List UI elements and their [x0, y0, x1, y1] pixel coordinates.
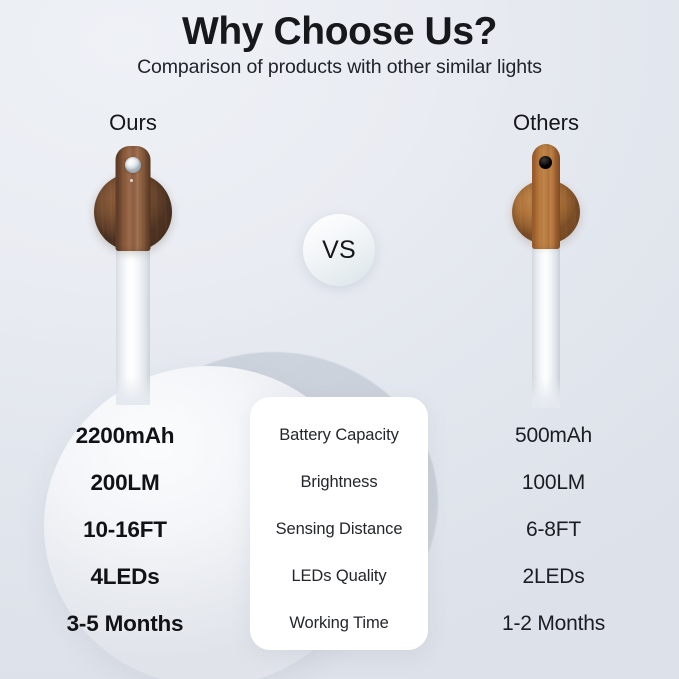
cell-others-value: 6-8FT: [428, 506, 679, 553]
cell-feature-label: Working Time: [250, 600, 428, 647]
cell-ours-value: 10-16FT: [0, 506, 250, 553]
comparison-poster: Why Choose Us? Comparison of products wi…: [0, 0, 679, 679]
cell-feature-label: LEDs Quality: [250, 553, 428, 600]
vs-badge-label: VS: [322, 236, 356, 265]
table-row: 3-5 MonthsWorking Time1-2 Months: [0, 600, 679, 647]
page-subtitle: Comparison of products with other simila…: [0, 56, 679, 79]
ours-motion-sensor-icon: [125, 157, 141, 173]
cell-ours-value: 4LEDs: [0, 553, 250, 600]
table-row: 10-16FTSensing Distance6-8FT: [0, 506, 679, 553]
cell-feature-label: Brightness: [250, 459, 428, 506]
cell-ours-value: 200LM: [0, 459, 250, 506]
cell-ours-value: 2200mAh: [0, 412, 250, 459]
vs-badge: VS: [303, 214, 375, 286]
cell-others-value: 500mAh: [428, 412, 679, 459]
product-image-others: [446, 140, 646, 355]
table-row: 2200mAhBattery Capacity500mAh: [0, 412, 679, 459]
cell-ours-value: 3-5 Months: [0, 600, 250, 647]
column-label-others: Others: [446, 110, 646, 136]
table-row: 200LMBrightness100LM: [0, 459, 679, 506]
product-image-ours: [33, 140, 233, 355]
cell-feature-label: Battery Capacity: [250, 412, 428, 459]
table-row: 4LEDsLEDs Quality2LEDs: [0, 553, 679, 600]
comparison-table: 2200mAhBattery Capacity500mAh200LMBright…: [0, 397, 679, 650]
cell-feature-label: Sensing Distance: [250, 506, 428, 553]
cell-others-value: 1-2 Months: [428, 600, 679, 647]
ours-indicator-dot-icon: [130, 179, 133, 182]
column-label-ours: Ours: [33, 110, 233, 136]
others-motion-sensor-icon: [539, 156, 552, 169]
cell-others-value: 100LM: [428, 459, 679, 506]
page-title: Why Choose Us?: [0, 10, 679, 54]
cell-others-value: 2LEDs: [428, 553, 679, 600]
